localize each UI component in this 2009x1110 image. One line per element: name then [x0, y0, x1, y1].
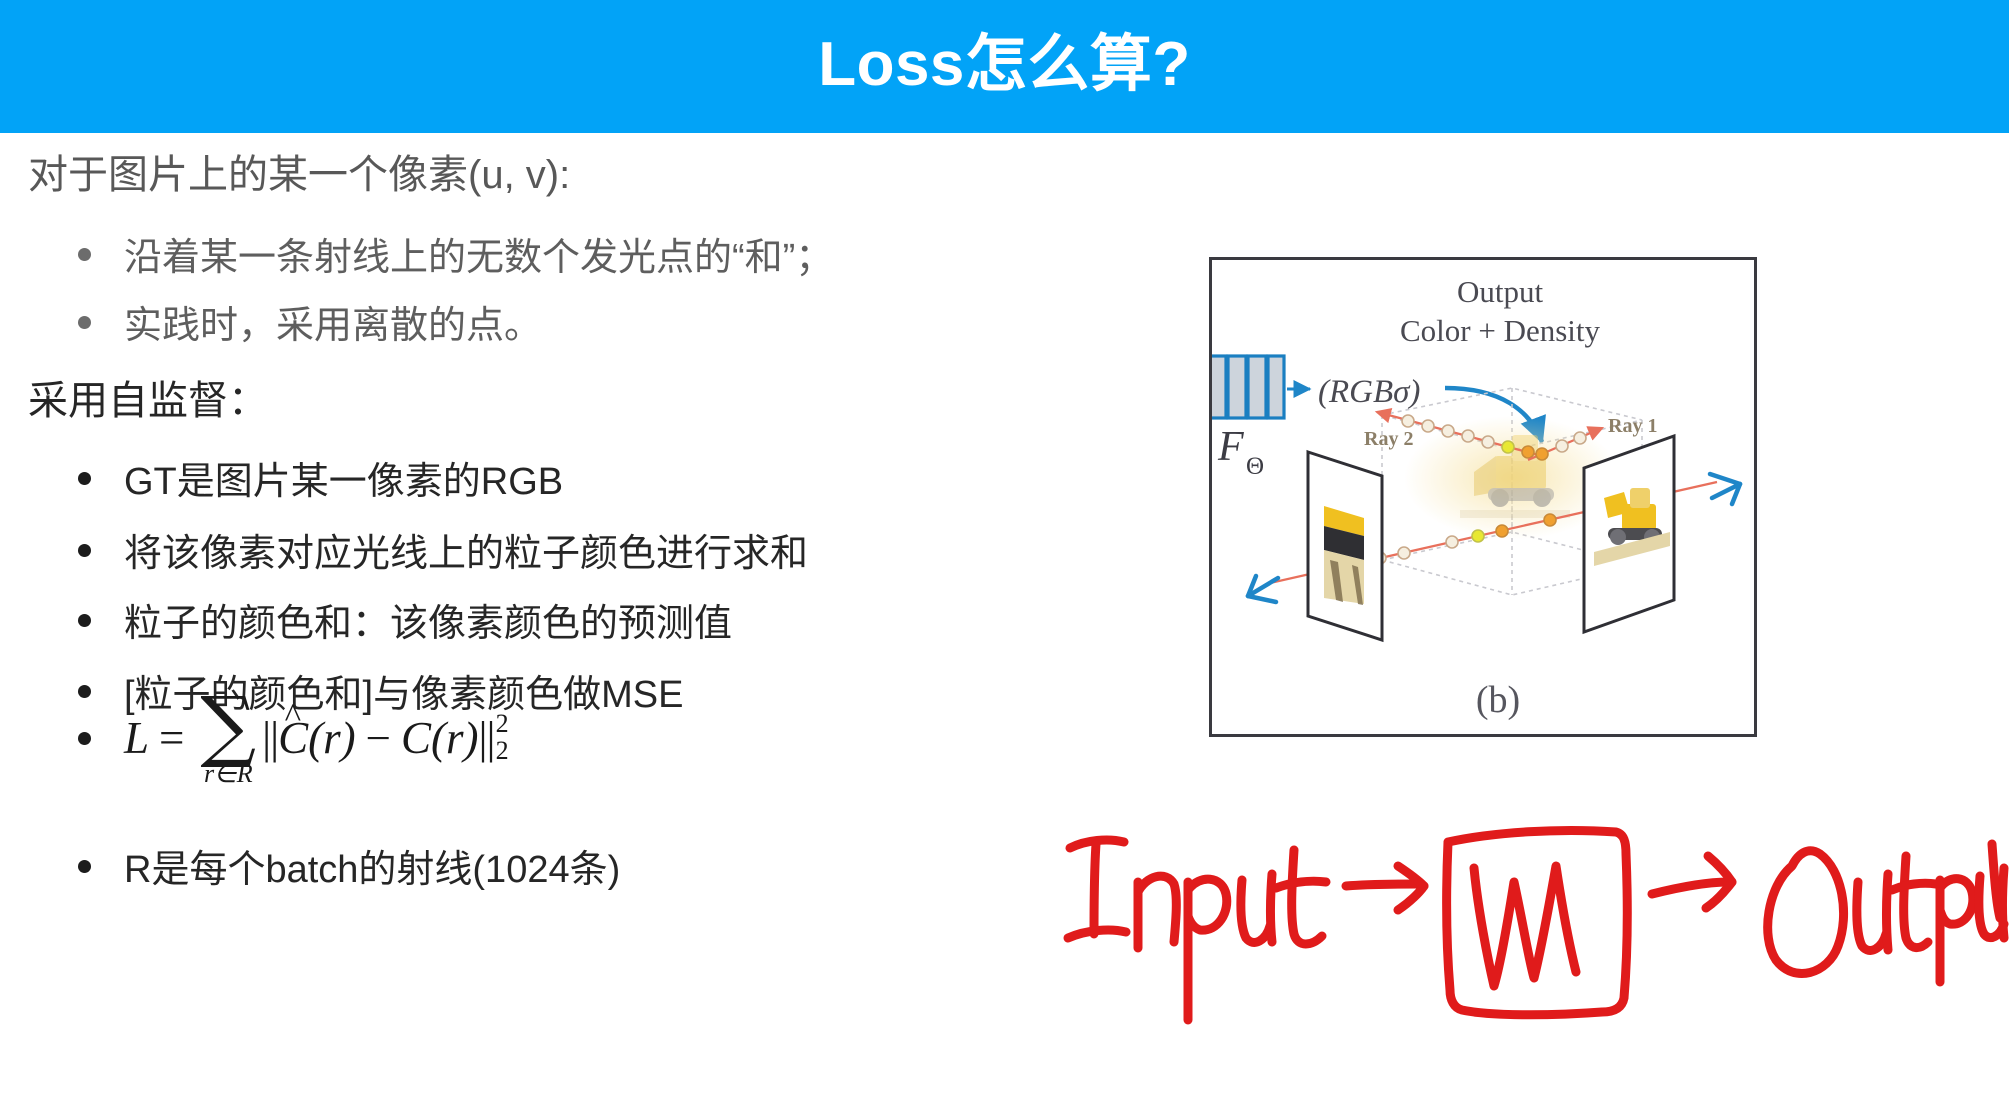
bullet-dot-icon — [78, 732, 91, 745]
list-item-formula: L = ∑ r∈R || ^ C (r) − C (r) || 2 2 — [78, 693, 509, 785]
loss-formula: L = ∑ r∈R || ^ C (r) − C (r) || 2 2 — [124, 693, 509, 785]
figure-network-label: F — [1217, 424, 1244, 470]
list-item-label: GT是图片某一像素的RGB — [124, 463, 563, 501]
handwritten-input-word — [1068, 840, 1326, 1020]
figure-ray-1-label: Ray 1 — [1608, 415, 1657, 437]
left-content-column: 对于图片上的某一个像素(u, v): 沿着某一条射线上的无数个发光点的“和”； … — [0, 133, 1180, 1110]
formula-superscript: 2 — [496, 710, 509, 737]
section-1-heading: 对于图片上的某一个像素(u, v): — [28, 155, 570, 195]
sigma-icon: ∑ — [200, 695, 256, 759]
list-item-label: 沿着某一条射线上的无数个发光点的“和”； — [124, 239, 833, 277]
section-2-heading: 采用自监督： — [28, 381, 268, 421]
formula-subscript: 2 — [496, 737, 509, 764]
bullet-dot-icon — [78, 860, 91, 873]
formula-minus: − — [366, 716, 391, 761]
handwritten-arrow-1 — [1346, 866, 1424, 910]
mlp-network-icon — [1212, 356, 1284, 418]
formula-lhs: L — [124, 716, 149, 761]
handwritten-output-word — [1768, 844, 2004, 982]
formula-norm-exponents: 2 2 — [496, 710, 509, 765]
bullet-dot-icon — [78, 472, 91, 485]
figure-left-image-plane — [1308, 452, 1382, 640]
nerf-figure-illustration: Output Color + Density F Θ (RGBσ) — [1212, 260, 1754, 734]
handwriting-illustration — [1050, 770, 2009, 1020]
bullet-dot-icon — [78, 248, 91, 261]
list-item-label: 粒子的颜色和：该像素颜色的预测值 — [124, 605, 732, 643]
figure-caption: (b) — [1476, 679, 1520, 721]
formula-summation: ∑ r∈R — [200, 695, 256, 787]
formula-equals: = — [159, 716, 184, 761]
nerf-figure-panel: Output Color + Density F Θ (RGBσ) — [1209, 257, 1757, 737]
figure-ray-2-label: Ray 2 — [1364, 428, 1413, 450]
handwritten-letter-m — [1474, 866, 1576, 986]
list-item-label: R是每个batch的射线(1024条) — [124, 851, 620, 889]
figure-camera-arrow-left — [1248, 576, 1278, 602]
bullet-dot-icon — [78, 316, 91, 329]
list-item-label: 实践时，采用离散的点。 — [124, 307, 542, 345]
figure-right-image-plane — [1584, 436, 1674, 632]
formula-chat: ^ C — [278, 716, 308, 761]
formula-sum-subscript: r∈R — [204, 761, 253, 787]
formula-norm-close: || — [479, 716, 495, 761]
list-item-label: 将该像素对应光线上的粒子颜色进行求和 — [124, 535, 808, 573]
handwritten-arrow-2 — [1652, 856, 1732, 908]
formula-c-arg: (r) — [431, 716, 478, 761]
bullet-dot-icon — [78, 544, 91, 557]
handwritten-annotation — [1050, 770, 2009, 1020]
formula-chat-arg: (r) — [308, 716, 355, 761]
list-item: R是每个batch的射线(1024条) — [78, 851, 620, 889]
formula-hat-accent: ^ — [285, 698, 301, 733]
figure-output-label-line1: Output — [1457, 274, 1544, 309]
figure-camera-arrow-right — [1710, 474, 1740, 504]
list-item: 粒子的颜色和：该像素颜色的预测值 — [78, 605, 732, 643]
handwritten-model-box — [1447, 830, 1628, 1014]
list-item: GT是图片某一像素的RGB — [78, 463, 563, 501]
page-title: Loss怎么算? — [818, 34, 1191, 100]
figure-output-label-line2: Color + Density — [1400, 313, 1601, 348]
list-item: 将该像素对应光线上的粒子颜色进行求和 — [78, 535, 808, 573]
list-item: 沿着某一条射线上的无数个发光点的“和”； — [78, 239, 833, 277]
list-item: 实践时，采用离散的点。 — [78, 307, 542, 345]
slide-header-banner: Loss怎么算? — [0, 0, 2009, 133]
formula-c-letter: C — [401, 716, 431, 761]
bullet-dot-icon — [78, 614, 91, 627]
figure-network-subscript: Θ — [1246, 453, 1264, 480]
formula-norm-open: || — [262, 716, 278, 761]
figure-rgbsigma-label: (RGBσ) — [1318, 374, 1420, 410]
figure-left-plane-render — [1324, 506, 1364, 605]
